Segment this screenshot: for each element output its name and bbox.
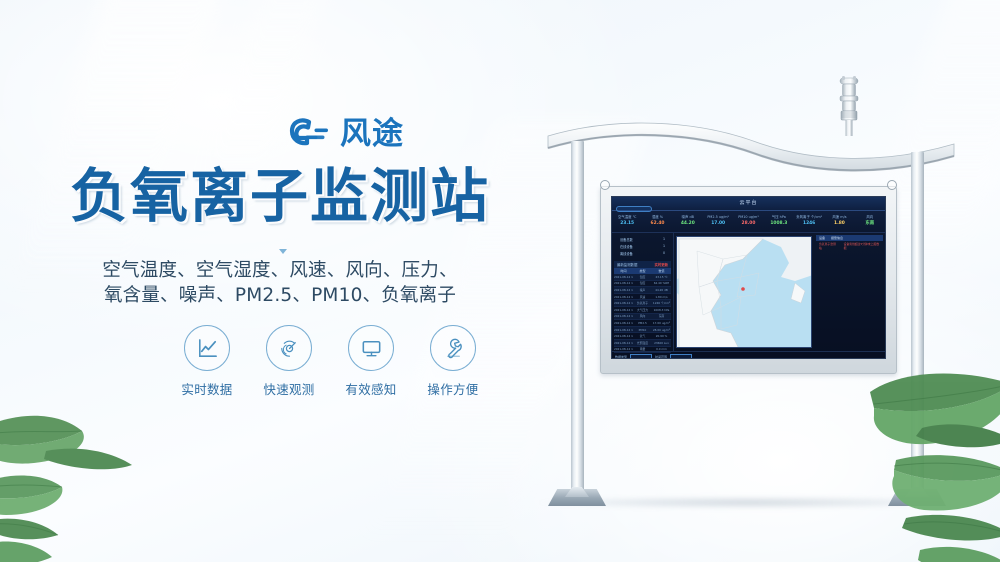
radar-wave-icon [277,336,302,361]
table-cell: 62.40 %RH [652,281,671,287]
table-row[interactable]: 2021-08-12 10:20负氧离子1246 个/cm³ [614,300,671,307]
table-body: 2021-08-12 10:30温度23.15 ℃2021-08-12 10:3… [614,274,671,353]
table-cell: 风向 [633,314,652,320]
data-table-badge: 实时更新 [654,262,668,267]
kpi-card: 空气温度 ℃ 23.15 [612,211,642,232]
table-cell: 17.00 ug/m³ [652,320,671,326]
mini-stat: 设备总数 1 [614,236,671,243]
sensor-list: 空气温度、空气湿度、风速、风向、压力、 氧含量、噪声、PM2.5、PM10、负氧… [0,258,560,308]
wave-canopy [546,118,956,174]
feature-label: 实时数据 [180,379,234,398]
table-row[interactable]: 2021-08-12 10:25噪声44.20 dB [614,287,671,294]
table-cell: 2021-08-12 10:30 [614,281,633,287]
table-cell: 湿度 [633,281,652,287]
kpi-value: 1246 [794,220,824,228]
chart-range-label: 时间范围 [655,355,667,359]
table-cell: 1008.3 hPa [652,307,671,313]
kpi-card: 气压 hPa 1008.3 [764,211,794,232]
table-cell: 2021-08-12 10:05 [614,340,633,346]
table-cell: 噪声 [633,287,652,293]
kpi-value: 28.00 [733,220,763,228]
table-row[interactable]: 2021-08-12 10:15风向东南 [614,314,671,321]
kpi-value: 44.20 [673,220,703,228]
table-row[interactable]: 2021-08-12 10:15PM2.517.00 ug/m³ [614,320,671,327]
alert-panel: 设备 报警信息 负氧离子监测站 设备离线超过5分钟未上报数据 [814,233,885,351]
dashboard-screen[interactable]: 云平台 空气温度 ℃ 23.15 湿度 % 62.40 噪声 dB 44.20 [611,196,886,359]
table-cell: 东南 [652,314,671,320]
kpi-card: 噪声 dB 44.20 [673,211,703,232]
alert-column-device: 设备 [816,235,828,241]
kpi-value: 17.00 [703,220,733,228]
feature-icon-circle [430,325,476,371]
kpi-card: 风速 m/s 1.80 [824,211,854,232]
kpi-row: 空气温度 ℃ 23.15 湿度 % 62.40 噪声 dB 44.20 PM2.… [612,211,885,233]
feature-list: 实时数据 快速观测 [180,325,480,398]
kpi-value: 东南 [855,220,885,228]
mini-stat: 在线设备 1 [614,243,671,250]
chart-panel: 数据类型 时间范围 历史数据 趋势曲线 [612,351,885,359]
wind-cloud-logo-icon [287,116,333,152]
sensor-list-line-2: 氧含量、噪声、PM2.5、PM10、负氧离子 [0,283,560,308]
alert-column-message: 报警信息 [828,235,846,241]
table-cell: PM2.5 [633,320,652,326]
chart-range-select[interactable] [670,354,692,359]
table-cell: 28.00 ug/m³ [652,327,671,333]
mini-stat-value: 1 [663,244,665,249]
support-post-right [911,152,924,498]
table-cell: 23600 Lux [652,340,671,346]
table-cell: 20.90 % [652,333,671,339]
table-row[interactable]: 2021-08-12 10:30温度23.15 ℃ [614,274,671,281]
page-title: 负氧离子监测站 [0,166,560,227]
feature-icon-circle [184,325,230,371]
table-row[interactable]: 2021-08-12 10:10PM1028.00 ug/m³ [614,327,671,334]
table-cell: 光照强度 [633,340,652,346]
table-cell: 2021-08-12 10:20 [614,307,633,313]
table-row[interactable]: 2021-08-12 10:30湿度62.40 %RH [614,281,671,288]
table-cell: 温度 [633,274,652,280]
table-row[interactable]: 2021-08-12 10:20大气压力1008.3 hPa [614,307,671,314]
table-cell: 2021-08-12 10:15 [614,314,633,320]
chart-selector-label: 数据类型 [615,355,627,359]
brand-name: 风途 [340,119,404,150]
table-cell: 氧气 [633,333,652,339]
kpi-value: 1.80 [824,220,854,228]
table-cell: 负氧离子 [633,300,652,306]
kpi-card: 湿度 % 62.40 [642,211,672,232]
dashboard-header: 云平台 [612,197,885,211]
table-cell: 2021-08-12 10:10 [614,327,633,333]
kpi-card: PM2.5 ug/m³ 17.00 [703,211,733,232]
mini-stat-label: 离线设备 [620,251,633,256]
mini-stat-label: 在线设备 [620,244,633,249]
table-row[interactable]: 2021-08-12 10:05光照强度23600 Lux [614,340,671,347]
station-selector[interactable] [616,206,652,212]
outdoor-display-unit: 云平台 空气温度 ℃ 23.15 湿度 % 62.40 噪声 dB 44.20 [600,186,897,374]
table-cell: 23.15 ℃ [652,274,671,280]
feature-item-realtime-data: 实时数据 [180,325,234,398]
table-cell: 2021-08-12 10:10 [614,333,633,339]
mini-stat-label: 设备总数 [620,237,633,242]
divider-dot-icon [279,249,287,254]
text-column: 风途 负氧离子监测站 空气温度、空气湿度、风速、风向、压力、 氧含量、噪声、PM… [0,0,560,562]
kpi-card: 负氧离子 个/cm³ 1246 [794,211,824,232]
mini-stat: 离线设备 0 [614,250,671,257]
table-cell: 风速 [633,294,652,300]
kpi-value: 1008.3 [764,220,794,228]
table-cell: 44.20 dB [652,287,671,293]
brand-logo: 风途 [287,116,404,152]
wrench-icon [441,336,466,361]
data-table-title: 最新监测数据 [617,262,637,267]
dashboard-body: 设备总数 1 在线设备 1 离线设备 0 最新监测数据 [612,233,885,351]
dashboard-title: 云平台 [612,199,885,206]
table-cell: 2021-08-12 10:30 [614,274,633,280]
kpi-value: 23.15 [612,220,642,228]
device-panel: 设备总数 1 在线设备 1 离线设备 0 最新监测数据 [612,233,674,351]
feature-icon-circle [266,325,312,371]
feature-label: 有效感知 [344,379,398,398]
feature-item-effective-sensing: 有效感知 [344,325,398,398]
table-cell: 2021-08-12 10:25 [614,294,633,300]
table-cell: 大气压力 [633,307,652,313]
table-row[interactable]: 2021-08-12 10:10氧气20.90 % [614,333,671,340]
alert-message: 设备离线超过5分钟未上报数据 [844,242,880,250]
table-cell: 2021-08-12 10:20 [614,300,633,306]
kpi-value: 62.40 [642,220,672,228]
sensor-list-line-1: 空气温度、空气湿度、风速、风向、压力、 [0,258,560,283]
china-map-panel[interactable] [676,236,812,348]
support-post-left [571,141,584,498]
feature-item-fast-observation: 快速观测 [262,325,316,398]
table-row[interactable]: 2021-08-12 10:25风速1.80 m/s [614,294,671,301]
feature-item-easy-operation: 操作方便 [426,325,480,398]
product-illustration: 云平台 空气温度 ℃ 23.15 湿度 % 62.40 噪声 dB 44.20 [500,0,1000,562]
data-table-header: 最新监测数据 实时更新 [614,261,671,268]
table-cell: 1246 个/cm³ [652,300,671,306]
alert-row: 负氧离子监测站 设备离线超过5分钟未上报数据 [816,241,883,251]
table-cell: 1.80 m/s [652,294,671,300]
mount-bracket-icon [887,180,897,190]
feature-icon-circle [348,325,394,371]
chart-controls: 数据类型 时间范围 [615,354,882,359]
promo-banner: 风途 负氧离子监测站 空气温度、空气湿度、风速、风向、压力、 氧含量、噪声、PM… [0,0,1000,562]
mini-stat-value: 1 [663,237,665,242]
kpi-card: PM10 ug/m³ 28.00 [733,211,763,232]
mount-bracket-icon [600,180,610,190]
monitor-screen-icon [359,336,384,361]
table-cell: PM10 [633,327,652,333]
line-chart-icon [195,336,220,361]
table-cell: 2021-08-12 10:25 [614,287,633,293]
chart-type-select[interactable] [630,354,652,359]
kpi-card: 风向 东南 [855,211,885,232]
alert-device: 负氧离子监测站 [819,242,838,250]
feature-label: 操作方便 [426,379,480,398]
feature-label: 快速观测 [262,379,316,398]
table-cell: 2021-08-12 10:15 [614,320,633,326]
mini-stat-value: 0 [663,251,665,256]
